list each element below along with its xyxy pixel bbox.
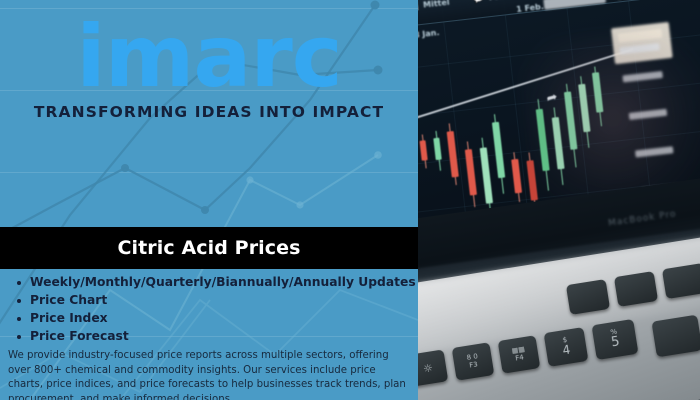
left-blue-panel: imarc TRANSFORMING IDEAS INTO IMPACT Cit…	[0, 0, 418, 400]
list-item: Price Index	[30, 311, 418, 327]
key-upper-row-3[interactable]	[662, 263, 700, 299]
promo-banner: imarc TRANSFORMING IDEAS INTO IMPACT Cit…	[0, 0, 700, 400]
page-title: Citric Acid Prices	[117, 237, 300, 259]
key-dollar-4[interactable]: $4	[544, 327, 589, 367]
key-upper-row-1[interactable]	[566, 279, 610, 315]
brand-tagline: TRANSFORMING IDEAS INTO IMPACT	[0, 103, 418, 121]
key-f4[interactable]: ▦▦F4	[498, 335, 541, 374]
list-item: Price Chart	[30, 293, 418, 309]
chart-icon: 📈	[418, 0, 419, 12]
feature-list: Weekly/Monthly/Quarterly/Biannually/Annu…	[0, 275, 418, 347]
description-paragraph: We provide industry-focused price report…	[0, 349, 418, 400]
brand-logo: imarc TRANSFORMING IDEAS INTO IMPACT	[0, 18, 418, 121]
menu-item-forum[interactable]: Forum	[488, 0, 517, 2]
title-bar: Citric Acid Prices	[0, 227, 418, 269]
menu-item-mittel[interactable]: Mittel	[423, 0, 450, 10]
key-percent-5[interactable]: %5	[592, 319, 639, 360]
logo-wordmark: imarc	[0, 18, 418, 97]
key-right-edge[interactable]	[651, 315, 700, 358]
list-item: Weekly/Monthly/Quarterly/Biannually/Annu…	[30, 275, 418, 291]
laptop-photo: 📈 Mittel 💬 Forum 1 Feb. -17% 18 Jan. ➦	[418, 0, 700, 400]
key-upper-row-2[interactable]	[614, 271, 658, 307]
list-item: Price Forecast	[30, 329, 418, 345]
key-brightness[interactable]: ☼	[418, 349, 448, 386]
key-f3[interactable]: 8 0F3	[452, 342, 495, 381]
comment-icon: 💬	[472, 0, 484, 5]
